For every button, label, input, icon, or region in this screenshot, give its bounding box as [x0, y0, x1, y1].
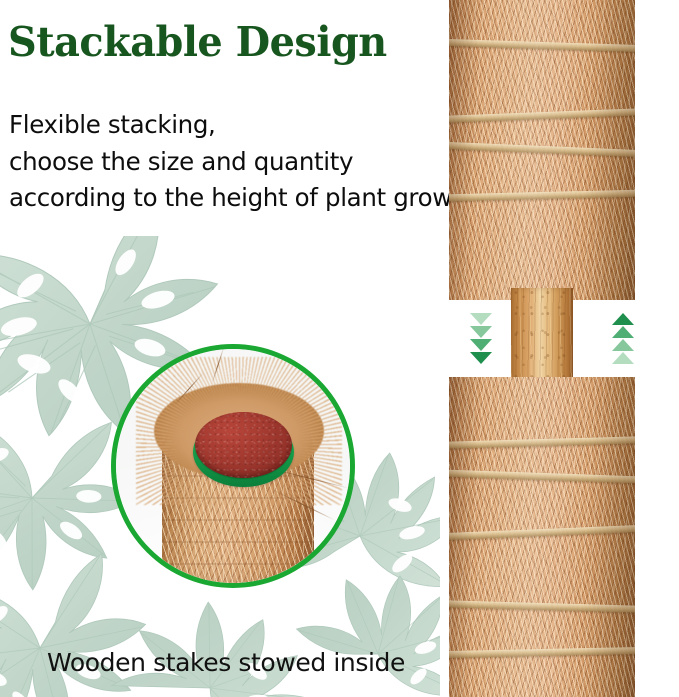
chevron-up-icon [612, 339, 634, 351]
twine-wrap [449, 470, 635, 484]
twine-wrap [449, 647, 635, 658]
twine-wrap [449, 525, 635, 540]
red-end-cap [195, 412, 292, 478]
chevron-up-icon [612, 352, 634, 364]
stack-up-arrows [612, 313, 634, 364]
infographic-canvas: Stackable Design Flexible stacking, choo… [0, 0, 679, 697]
lower-coir-pole-segment [449, 377, 635, 697]
detail-callout-circle [111, 344, 355, 588]
twine-wrap [449, 190, 635, 202]
upper-coir-pole-segment [449, 0, 635, 300]
caption-text: Wooden stakes stowed inside [47, 648, 405, 677]
chevron-down-icon [470, 339, 492, 351]
chevron-down-icon [470, 326, 492, 338]
chevron-up-icon [612, 313, 634, 325]
page-title: Stackable Design [8, 22, 387, 64]
chevron-down-icon [470, 352, 492, 364]
twine-wrap [449, 39, 635, 52]
chevron-up-icon [612, 326, 634, 338]
description-text: Flexible stacking, choose the size and q… [9, 107, 459, 217]
twine-wrap [449, 436, 635, 449]
description-line-1: Flexible stacking, [9, 107, 459, 144]
description-line-3: according to the height of plant growth [9, 180, 459, 217]
description-line-2: choose the size and quantity [9, 144, 459, 181]
wooden-stake [511, 288, 573, 388]
chevron-down-icon [470, 313, 492, 325]
detail-callout-photo [116, 349, 350, 583]
twine-wrap [449, 108, 635, 123]
stack-down-arrows [470, 313, 492, 364]
twine-wrap [449, 600, 635, 613]
twine-wrap [449, 142, 635, 157]
